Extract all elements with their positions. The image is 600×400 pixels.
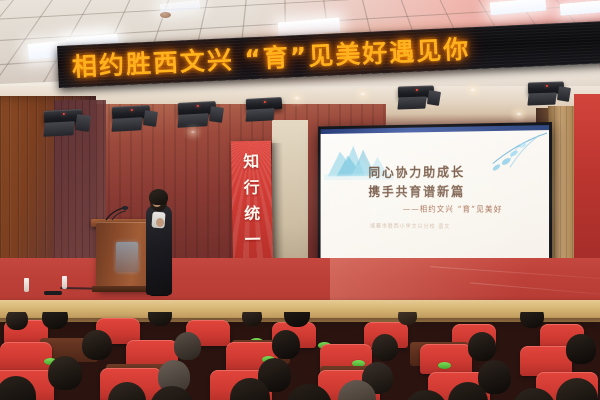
audience-head: [6, 312, 28, 330]
wall-sign-char-2: 行: [243, 175, 259, 201]
audience-head: [174, 332, 201, 360]
presenter-hair: [149, 189, 168, 205]
audience-seating: [0, 312, 600, 400]
audience-head: [42, 312, 68, 329]
ceiling-downlight-icon: [190, 130, 196, 134]
projection-screen-frame: 同心协力助成长 携手共育谱新篇 ——相约文兴 “育”见美好 成都市胜西小学文兴分…: [318, 122, 552, 274]
stage-light-wing: [427, 90, 441, 106]
smoke-detector-icon: [160, 12, 171, 18]
slide-title-line-1: 同心协力助成长: [368, 163, 537, 184]
audience-head: [468, 332, 496, 361]
ceiling-downlight-icon: [294, 96, 300, 100]
audience-head: [82, 330, 112, 360]
slide-title: 同心协力助成长 携手共育谱新篇: [368, 163, 537, 203]
ceiling-downlight-icon: [360, 92, 366, 96]
audience-head: [372, 334, 398, 361]
audience-head: [566, 334, 596, 364]
stage-light-wing: [557, 86, 571, 102]
lectern-emblem: [116, 242, 138, 272]
auditorium-photo: 知 行 统 一 同心协力助成长: [0, 0, 600, 400]
audience-head: [242, 312, 262, 326]
mic-stand-base: [44, 291, 62, 295]
audience-head: [398, 312, 417, 325]
stage-light-wing: [527, 92, 556, 105]
slide-subtitle: ——相约文兴 “育”见美好: [403, 204, 545, 216]
stage-light-wing: [245, 108, 274, 122]
water-bottle: [24, 278, 29, 292]
microphone-icon: [104, 206, 132, 221]
seat-number-tag: [438, 362, 451, 369]
audience-head: [520, 312, 544, 328]
audience-head: [148, 312, 172, 326]
wall-sign-char-1: 知: [243, 149, 259, 175]
stage-light-wing: [209, 106, 224, 123]
seat: [420, 344, 472, 374]
wall-sign-char-3: 统: [244, 201, 260, 227]
slide-footer: 成都市胜西小学文兴分校 语文: [370, 222, 539, 231]
stage-light-wing: [111, 117, 142, 132]
audience-head: [272, 330, 300, 359]
wall-sign-char-4: 一: [244, 227, 260, 253]
stage-light-wing: [143, 110, 158, 127]
stage-light-wing: [43, 121, 74, 137]
ceiling-downlight-icon: [516, 112, 522, 116]
slide-title-line-2: 携手共育谱新篇: [368, 183, 537, 203]
ceiling-downlight-icon: [470, 88, 476, 92]
stage-light-wing: [397, 96, 426, 109]
presenter-hand: [156, 218, 164, 227]
stage-light-wing: [75, 114, 91, 132]
projection-screen: 同心协力助成长 携手共育谱新篇 ——相约文兴 “育”见美好 成都市胜西小学文兴分…: [321, 125, 549, 268]
wall-sign-zhixingtongyi: 知 行 统 一: [231, 141, 273, 266]
water-bottle: [62, 276, 67, 289]
stage-light-wing: [177, 113, 208, 128]
audience-head: [48, 356, 82, 390]
seat: [0, 342, 52, 372]
